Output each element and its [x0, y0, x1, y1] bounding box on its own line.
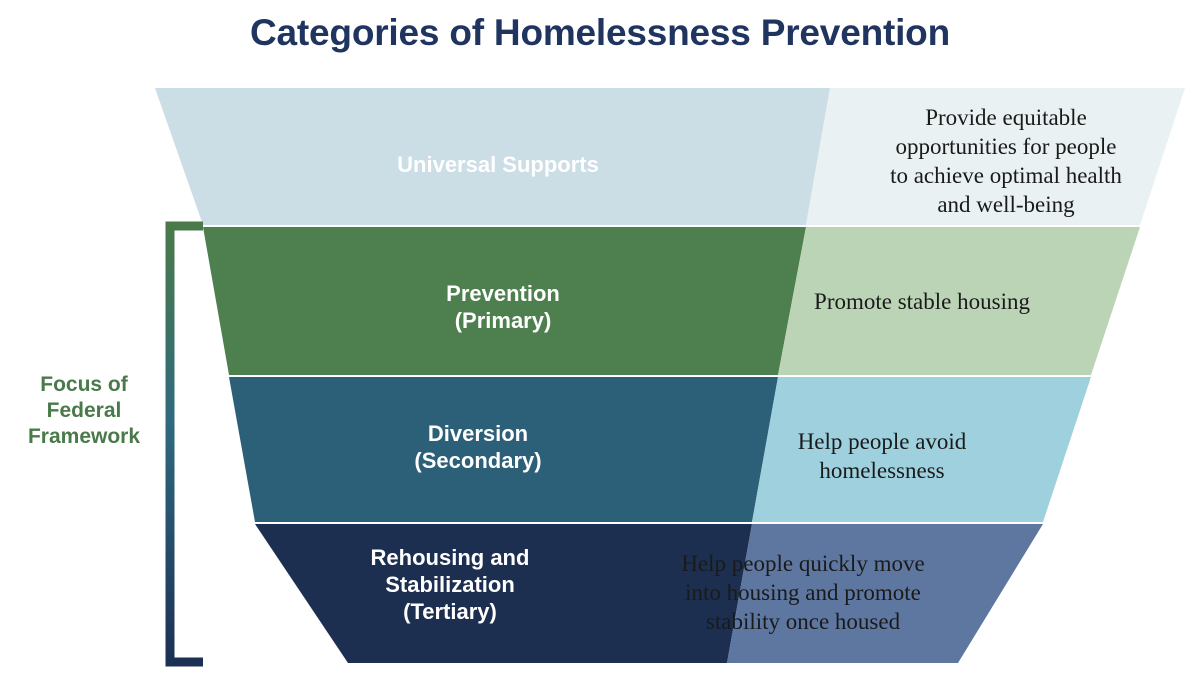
band-rehousing-right-shape — [727, 524, 1043, 663]
band-prevention-left-shape — [203, 227, 806, 375]
diagram-canvas: Categories of Homelessness Prevention Fo… — [0, 0, 1200, 690]
band-diversion-left-shape — [229, 377, 778, 522]
federal-focus-label: Focus of Federal Framework — [6, 372, 162, 450]
funnel-diagram — [0, 0, 1200, 690]
band-universal-right-shape — [806, 88, 1185, 225]
band-prevention-right-shape — [778, 227, 1140, 375]
federal-focus-bracket — [170, 226, 203, 662]
band-universal-left-shape — [155, 88, 830, 225]
band-diversion-right-shape — [752, 377, 1091, 522]
band-rehousing-left-shape — [255, 524, 752, 663]
